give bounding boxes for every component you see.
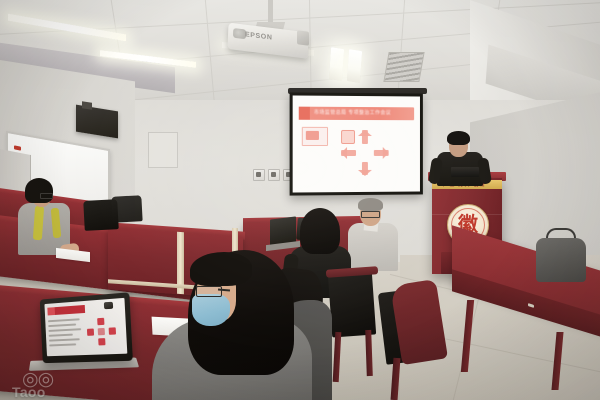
watermark-text: Taoo [12,384,46,400]
wall-outlet-1[interactable] [253,169,265,181]
arrow-left-head [341,147,347,159]
arrow-up-head [358,130,372,136]
floor-bag[interactable] [536,238,586,282]
attendee-foreground-bangs [190,252,252,286]
light-panel-center-a [329,47,344,81]
attendee-left-glasses-icon [40,193,53,199]
light-panel-center-b [347,49,362,83]
air-vent-icon [383,52,424,82]
chair-back-4[interactable] [111,195,142,223]
attendee-left-hair [25,178,53,203]
attendee-center-dark-hair [300,208,340,254]
laptop-slide-diagram [86,317,117,347]
projection-screen: 市场监管总局 专项整治工作会议 [290,92,423,195]
chair-back-1[interactable] [328,271,376,338]
arrow-right-head [383,147,389,159]
attendee-older-man-glasses-icon [361,211,380,218]
podium-laptop [451,167,479,177]
slide-surface: 市场监管总局 专项整治工作会议 [293,95,420,192]
laptop-camera-icon [104,302,113,309]
speaker-hair [447,131,470,145]
slide-header-bar: 市场监管总局 专项整治工作会议 [299,107,414,121]
diagram-center-node [341,130,355,144]
photo-scene: EPSON 市场监管总局 专项整治工作会议 [0,0,600,400]
foreground-laptop-display [44,298,127,356]
slide-logo-icon [302,127,328,146]
slide-diagram [341,130,389,176]
watermark: ◎◎ Taoo [8,370,128,398]
foreground-laptop[interactable] [40,292,133,363]
slide-header-tab [299,107,310,120]
laptop-slide-header-tab [47,307,55,315]
wall-panel-box [148,132,178,168]
wall-speaker-bracket [82,101,92,110]
attendee-older-man-hair [358,198,383,211]
arrow-down-head [358,170,372,176]
slide-title-text: 市场监管总局 专项整治工作会议 [314,109,391,116]
face-mask [192,294,230,326]
projector-lens-icon [297,30,309,45]
wall-outlet-2[interactable] [268,169,280,181]
